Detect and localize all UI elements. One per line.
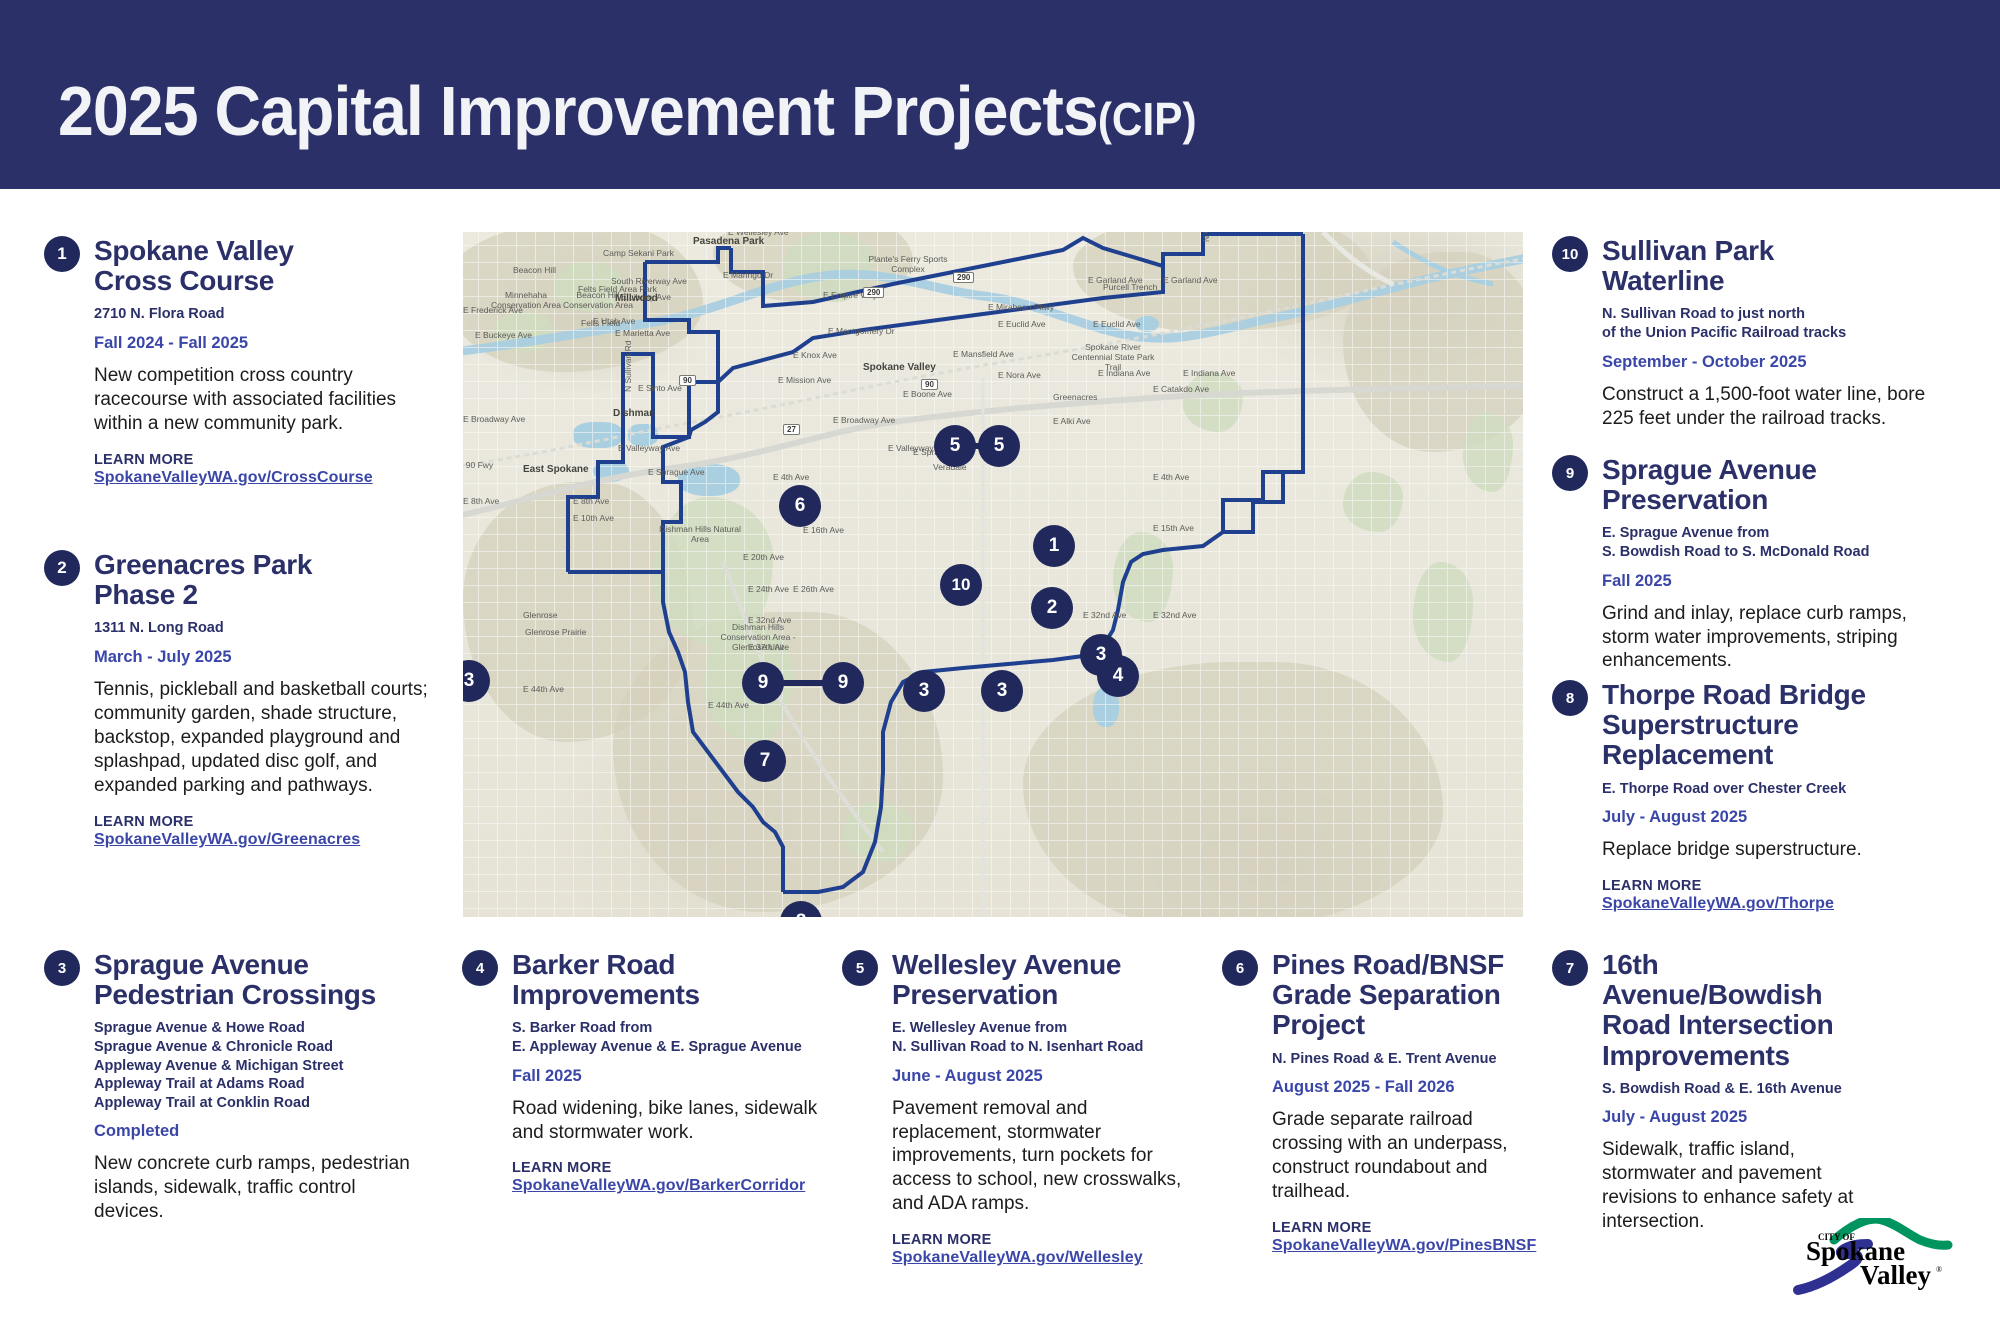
project-title-line: Project <box>1272 1010 1522 1040</box>
learn-more-link[interactable]: SpokaneValleyWA.gov/BarkerCorridor <box>512 1177 822 1195</box>
learn-more-block[interactable]: LEARN MORE SpokaneValleyWA.gov/Wellesley <box>892 1232 1182 1267</box>
project-location-line: E. Thorpe Road over Chester Creek <box>1602 780 1952 799</box>
project-number-badge: 10 <box>1552 236 1588 272</box>
map-marker-9[interactable]: 9 <box>742 662 784 704</box>
project-location-line: Sprague Avenue & Chronicle Road <box>94 1038 424 1057</box>
map-street-label: E Valleyway Ave <box>618 443 680 453</box>
project-description: Road widening, bike lanes, sidewalk and … <box>512 1097 822 1145</box>
project-description: Replace bridge superstructure. <box>1602 838 1952 862</box>
project-date: March - July 2025 <box>94 648 434 667</box>
project-entry-1[interactable]: 1 Spokane Valley Cross Course 2710 N. Fl… <box>44 236 434 487</box>
map-street-label: E Nora Ave <box>998 370 1041 380</box>
map-street-label: E 26th Ave <box>793 584 834 594</box>
map-place-label: Glenrose Prairie <box>525 627 586 637</box>
map-street-label: E Catakdo Ave <box>1153 384 1209 394</box>
page-title-main: 2025 Capital Improvement Projects <box>58 72 1098 150</box>
map-street-label: E 44th Ave <box>523 684 564 694</box>
map-street-label: E Broadway Ave <box>463 414 525 424</box>
map-street-label: E 24th Ave <box>748 584 789 594</box>
highway-shield-290: 290 <box>863 287 884 298</box>
project-title-line: Preservation <box>892 980 1182 1010</box>
map-place-label: Greenacres <box>1053 392 1097 402</box>
project-description: Grind and inlay, replace curb ramps, sto… <box>1602 602 1952 674</box>
map-place-label: Pasadena Park <box>693 236 764 247</box>
project-entry-2[interactable]: 2 Greenacres Park Phase 2 1311 N. Long R… <box>44 550 434 849</box>
map-place-label: Camp Sekani Park <box>603 248 674 258</box>
map-street-label: E Mirabeau Pkwy <box>988 302 1054 312</box>
map-street-label: E Sprague Ave <box>648 467 705 477</box>
project-title-line: Preservation <box>1602 485 1952 515</box>
map-street-label: N Sullivan Rd <box>623 341 633 393</box>
project-title: 16th Avenue/Bowdish Road Intersection Im… <box>1602 950 1882 1071</box>
map-street-label: E 16th Ave <box>803 525 844 535</box>
map-place-label: Dishman Hills Natural Area <box>655 524 745 544</box>
learn-more-link[interactable]: SpokaneValleyWA.gov/PinesBNSF <box>1272 1237 1522 1255</box>
highway-shield-290b: 290 <box>953 272 974 283</box>
project-location: E. Thorpe Road over Chester Creek <box>1602 780 1952 799</box>
project-title-line: Sprague Avenue <box>1602 455 1952 485</box>
project-location-line: S. Bowdish Road & E. 16th Avenue <box>1602 1080 1882 1099</box>
project-description: New concrete curb ramps, pedestrian isla… <box>94 1152 424 1224</box>
map-street-label: E Euclid Ave <box>998 319 1046 329</box>
project-title-line: Pedestrian Crossings <box>94 980 424 1010</box>
project-title-line: Superstructure <box>1602 710 1952 740</box>
learn-more-label: LEARN MORE <box>512 1160 822 1176</box>
project-date: Fall 2025 <box>1602 572 1952 591</box>
map-street-label: E Buckeye Ave <box>475 330 532 340</box>
map-street-label: E I 90 Fwy <box>463 460 493 470</box>
project-date: July - August 2025 <box>1602 808 1952 827</box>
page-title-suffix: (CIP) <box>1098 93 1197 145</box>
project-entry-9[interactable]: 9 Sprague Avenue Preservation E. Sprague… <box>1552 455 1952 673</box>
learn-more-block[interactable]: LEARN MORE SpokaneValleyWA.gov/BarkerCor… <box>512 1160 822 1195</box>
learn-more-block[interactable]: LEARN MORE SpokaneValleyWA.gov/PinesBNSF <box>1272 1220 1522 1255</box>
project-date: July - August 2025 <box>1602 1108 1882 1127</box>
learn-more-link[interactable]: SpokaneValleyWA.gov/Greenacres <box>94 831 434 849</box>
project-title: Sprague Avenue Pedestrian Crossings <box>94 950 424 1010</box>
project-entry-6[interactable]: 6 Pines Road/BNSF Grade Separation Proje… <box>1222 950 1522 1255</box>
project-location-line: Sprague Avenue & Howe Road <box>94 1019 424 1038</box>
project-title-line: Sprague Avenue <box>94 950 424 980</box>
project-entry-4[interactable]: 4 Barker Road Improvements S. Barker Roa… <box>462 950 822 1195</box>
project-title: Wellesley Avenue Preservation <box>892 950 1182 1010</box>
map-street-label: E Maringo Dr <box>723 270 773 280</box>
project-location: 1311 N. Long Road <box>94 619 434 638</box>
project-location: N. Sullivan Road to just north of the Un… <box>1602 305 1952 342</box>
map-street-label: E Garland Ave <box>1163 275 1218 285</box>
project-entry-5[interactable]: 5 Wellesley Avenue Preservation E. Welle… <box>842 950 1182 1267</box>
highway-shield-90b: 90 <box>921 379 938 390</box>
project-number-badge: 2 <box>44 550 80 586</box>
project-location-line: N. Sullivan Road to N. Isenhart Road <box>892 1038 1182 1057</box>
learn-more-label: LEARN MORE <box>892 1232 1182 1248</box>
map-marker-5[interactable]: 5 <box>978 425 1020 467</box>
project-location-line: E. Appleway Avenue & E. Sprague Avenue <box>512 1038 822 1057</box>
map-street-label: E 20th Ave <box>743 552 784 562</box>
map-street-label: E Mansfield Ave <box>953 349 1014 359</box>
project-title-line: Barker Road <box>512 950 822 980</box>
map-place-label: Plante's Ferry Sports Complex <box>863 254 953 274</box>
project-number-badge: 6 <box>1222 950 1258 986</box>
project-title-line: Pines Road/BNSF <box>1272 950 1522 980</box>
map-marker-1[interactable]: 1 <box>1033 525 1075 567</box>
map-street-label: E 32nd Ave <box>1083 610 1126 620</box>
project-number-badge: 7 <box>1552 950 1588 986</box>
project-location-line: S. Bowdish Road to S. McDonald Road <box>1602 543 1952 562</box>
map-street-label: E 10th Ave <box>573 513 614 523</box>
project-title-line: 16th Avenue/Bowdish <box>1602 950 1882 1010</box>
map-place-label: Dishman Hills Conservation Area - Glenro… <box>713 622 803 652</box>
map-street-label: E 32nd Ave <box>1153 610 1196 620</box>
learn-more-block[interactable]: LEARN MORE SpokaneValleyWA.gov/CrossCour… <box>94 452 434 487</box>
learn-more-link[interactable]: SpokaneValleyWA.gov/Thorpe <box>1602 895 1952 913</box>
project-date: Fall 2025 <box>512 1067 822 1086</box>
project-entry-3[interactable]: 3 Sprague Avenue Pedestrian Crossings Sp… <box>44 950 424 1224</box>
project-title-line: Sullivan Park <box>1602 236 1952 266</box>
map-street-label: E Broadway Ave <box>833 415 895 425</box>
project-date: Completed <box>94 1122 424 1141</box>
project-title-line: Cross Course <box>94 266 434 296</box>
learn-more-label: LEARN MORE <box>94 452 434 468</box>
project-description: Tennis, pickleball and basketball courts… <box>94 678 434 798</box>
project-title-line: Improvements <box>512 980 822 1010</box>
map-place-label: Dishman <box>613 408 655 419</box>
project-title: Thorpe Road Bridge Superstructure Replac… <box>1602 680 1952 771</box>
city-of-spokane-valley-logo: CITY OF Spokane Valley ® <box>1790 1218 1960 1304</box>
map-marker-3[interactable]: 3 <box>903 670 945 712</box>
map-marker-7[interactable]: 7 <box>744 740 786 782</box>
map-street-label: E Indiana Ave <box>1183 368 1235 378</box>
learn-more-link[interactable]: SpokaneValleyWA.gov/Wellesley <box>892 1249 1182 1267</box>
map-marker-3[interactable]: 3 <box>981 670 1023 712</box>
map-marker-5[interactable]: 5 <box>934 425 976 467</box>
project-location-line: Appleway Trail at Adams Road <box>94 1075 424 1094</box>
project-title-line: Phase 2 <box>94 580 434 610</box>
project-title: Spokane Valley Cross Course <box>94 236 434 296</box>
map-street-label: E Alki Ave <box>1053 416 1091 426</box>
project-date: August 2025 - Fall 2026 <box>1272 1078 1522 1097</box>
page-title: 2025 Capital Improvement Projects(CIP) <box>58 76 1197 146</box>
highway-shield-90: 90 <box>679 375 696 386</box>
map-marker-6[interactable]: 6 <box>779 485 821 527</box>
map-place-label: East Spokane <box>523 464 589 475</box>
learn-more-label: LEARN MORE <box>1602 878 1952 894</box>
project-location-line: Appleway Trail at Conklin Road <box>94 1094 424 1113</box>
project-title-line: Waterline <box>1602 266 1952 296</box>
project-location-line: N. Pines Road & E. Trent Avenue <box>1272 1050 1522 1069</box>
map-place-label: Glenrose <box>523 610 558 620</box>
project-location-line: S. Barker Road from <box>512 1019 822 1038</box>
learn-more-label: LEARN MORE <box>94 814 434 830</box>
project-location-line: E. Wellesley Avenue from <box>892 1019 1182 1038</box>
project-entry-8[interactable]: 8 Thorpe Road Bridge Superstructure Repl… <box>1552 680 1952 913</box>
project-description: Construct a 1,500-foot water line, bore … <box>1602 383 1952 431</box>
project-number-badge: 8 <box>1552 680 1588 716</box>
map-place-label: Beacon Hill <box>513 265 556 275</box>
project-number-badge: 4 <box>462 950 498 986</box>
project-title-line: Spokane Valley <box>94 236 434 266</box>
project-location-line: E. Sprague Avenue from <box>1602 524 1952 543</box>
project-date: Fall 2024 - Fall 2025 <box>94 334 434 353</box>
map-marker-4[interactable]: 4 <box>1097 655 1139 697</box>
project-title-line: Replacement <box>1602 740 1952 770</box>
project-title-line: Greenacres Park <box>94 550 434 580</box>
project-title: Greenacres Park Phase 2 <box>94 550 434 610</box>
project-location: E. Wellesley Avenue from N. Sullivan Roa… <box>892 1019 1182 1056</box>
project-title-line: Wellesley Avenue <box>892 950 1182 980</box>
project-location: N. Pines Road & E. Trent Avenue <box>1272 1050 1522 1069</box>
map-street-label: E Euclid Ave <box>1093 319 1141 329</box>
project-location-map[interactable]: E Columbia DrE Crown AveE Valley Springs… <box>463 232 1523 917</box>
map-street-label: E 4th Ave <box>1153 472 1189 482</box>
learn-more-block[interactable]: LEARN MORE SpokaneValleyWA.gov/Greenacre… <box>94 814 434 849</box>
poster-header: 2025 Capital Improvement Projects(CIP) <box>0 0 2000 189</box>
map-street-label: N Campbell Rd <box>1201 232 1211 242</box>
map-street-label: E 8th Ave <box>463 496 499 506</box>
project-title: Sprague Avenue Preservation <box>1602 455 1952 515</box>
map-place-label: Spokane River Centennial State Park Trai… <box>1068 342 1158 372</box>
learn-more-block[interactable]: LEARN MORE SpokaneValleyWA.gov/Thorpe <box>1602 878 1952 913</box>
project-date: September - October 2025 <box>1602 353 1952 372</box>
project-number-badge: 9 <box>1552 455 1588 491</box>
project-date: June - August 2025 <box>892 1067 1182 1086</box>
map-marker-9[interactable]: 9 <box>822 662 864 704</box>
project-number-badge: 3 <box>44 950 80 986</box>
map-street-label: E Boone Ave <box>903 389 952 399</box>
map-place-label: Felts Field Area Park <box>578 284 657 294</box>
map-marker-2[interactable]: 2 <box>1031 587 1073 629</box>
map-street-label: E Knox Ave <box>793 350 837 360</box>
project-title: Sullivan Park Waterline <box>1602 236 1952 296</box>
project-entry-10[interactable]: 10 Sullivan Park Waterline N. Sullivan R… <box>1552 236 1952 430</box>
project-description: New competition cross country racecourse… <box>94 364 434 436</box>
map-marker-10[interactable]: 10 <box>940 564 982 606</box>
map-street-label: E 15th Ave <box>1153 523 1194 533</box>
project-location-line: Appleway Avenue & Michigan Street <box>94 1057 424 1076</box>
logo-registered: ® <box>1936 1265 1942 1274</box>
logo-valley: Valley <box>1860 1260 1932 1290</box>
project-title-line: Improvements <box>1602 1041 1882 1071</box>
project-location: S. Barker Road from E. Appleway Avenue &… <box>512 1019 822 1056</box>
map-street-label: E 8th Ave <box>573 496 609 506</box>
highway-shield-27: 27 <box>783 424 800 435</box>
map-street-label: E 44th Ave <box>708 700 749 710</box>
project-location-line: N. Sullivan Road to just north <box>1602 305 1952 324</box>
map-place-label: Spokane Valley <box>863 362 936 373</box>
project-location: 2710 N. Flora Road <box>94 305 434 324</box>
learn-more-label: LEARN MORE <box>1272 1220 1522 1236</box>
project-location-line: of the Union Pacific Railroad tracks <box>1602 324 1952 343</box>
map-street-label: E Mission Ave <box>778 375 831 385</box>
map-place-label: Felts Field <box>581 318 620 328</box>
map-street-label: E Sinto Ave <box>638 383 682 393</box>
project-location: S. Bowdish Road & E. 16th Avenue <box>1602 1080 1882 1099</box>
map-place-label: Purcell Trench <box>1103 282 1157 292</box>
project-title: Barker Road Improvements <box>512 950 822 1010</box>
project-title-line: Road Intersection <box>1602 1010 1882 1040</box>
project-description: Pavement removal and replacement, stormw… <box>892 1097 1182 1217</box>
project-entry-7[interactable]: 7 16th Avenue/Bowdish Road Intersection … <box>1552 950 1882 1234</box>
cip-poster: 2025 Capital Improvement Projects(CIP) <box>0 0 2000 1334</box>
learn-more-link[interactable]: SpokaneValleyWA.gov/CrossCourse <box>94 469 434 487</box>
project-title: Pines Road/BNSF Grade Separation Project <box>1272 950 1522 1041</box>
project-description: Grade separate railroad crossing with an… <box>1272 1108 1522 1204</box>
map-street-label: E Marietta Ave <box>615 328 670 338</box>
project-location: E. Sprague Avenue from S. Bowdish Road t… <box>1602 524 1952 561</box>
project-title-line: Thorpe Road Bridge <box>1602 680 1952 710</box>
project-location: Sprague Avenue & Howe Road Sprague Avenu… <box>94 1019 424 1112</box>
map-street-label: E Montgomery Dr <box>828 326 895 336</box>
map-street-label: E 4th Ave <box>773 472 809 482</box>
project-number-badge: 1 <box>44 236 80 272</box>
project-title-line: Grade Separation <box>1272 980 1522 1010</box>
project-number-badge: 5 <box>842 950 878 986</box>
